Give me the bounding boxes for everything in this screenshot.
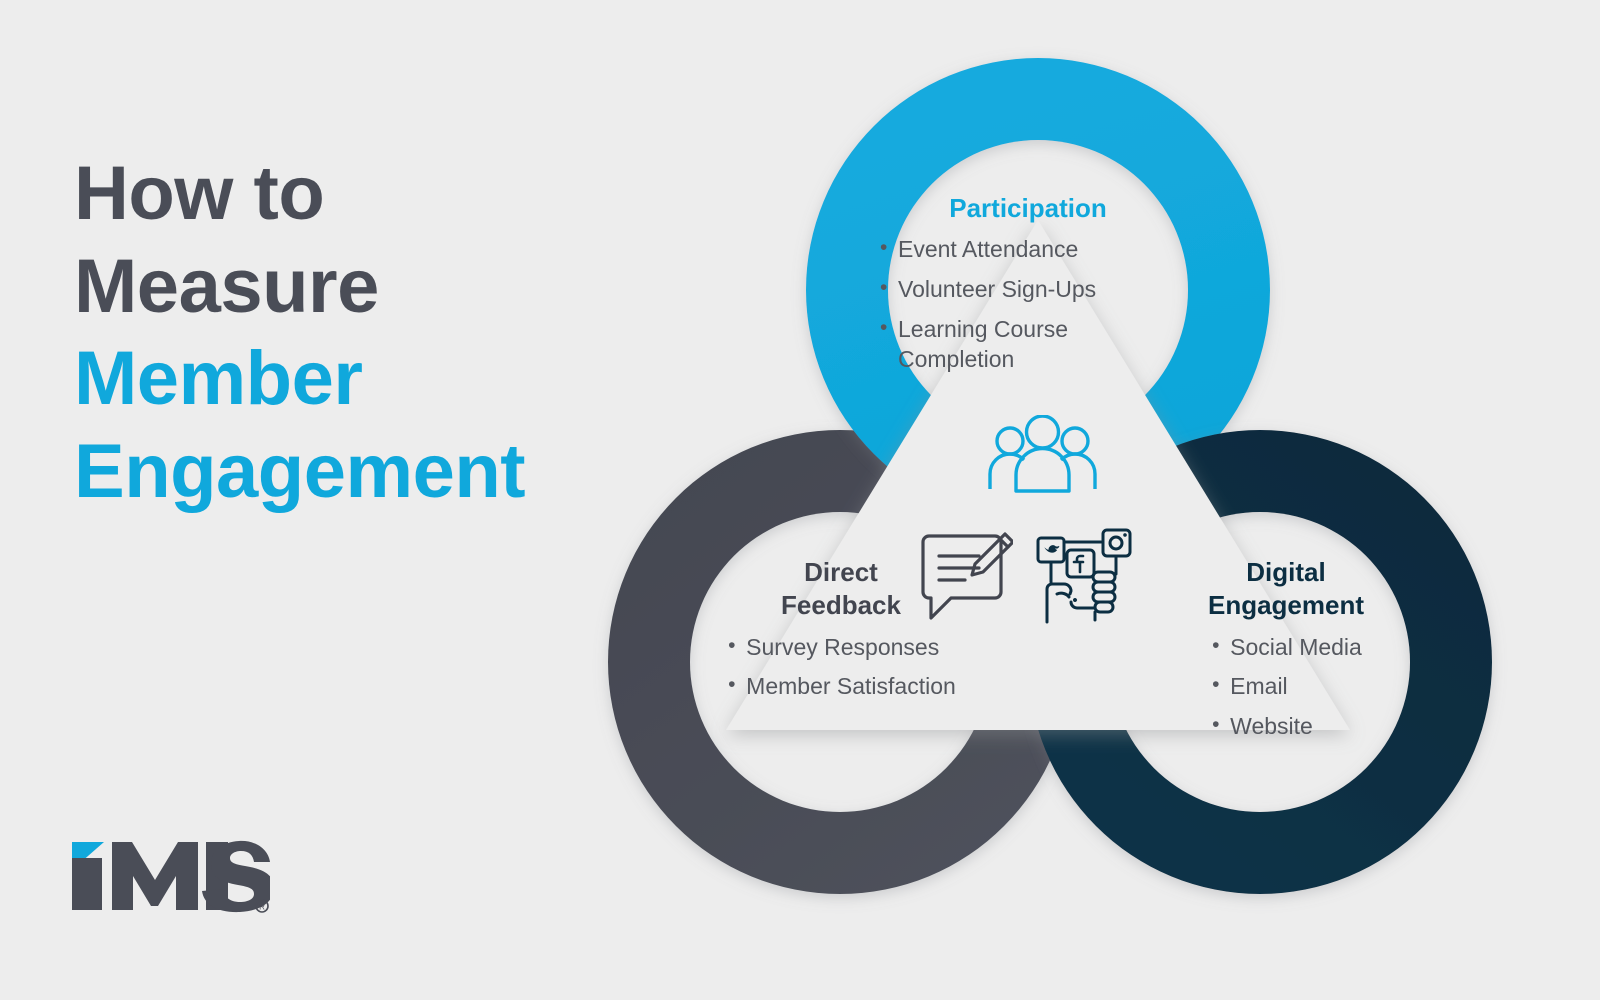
imis-logo: R: [70, 836, 270, 916]
group-participation-list: Event Attendance Volunteer Sign-Ups Lear…: [878, 235, 1178, 375]
group-digital-engagement: Digital Engagement Social Media Email We…: [1146, 556, 1426, 742]
engagement-ring-diagram: Participation Event Attendance Volunteer…: [560, 40, 1560, 960]
group-digital-engagement-title-line-2: Engagement: [1146, 589, 1426, 622]
list-item: Learning Course Completion: [878, 315, 1178, 375]
logo-letter-m: [112, 842, 198, 910]
hand-social-icons-svg: [1035, 528, 1135, 624]
group-digital-engagement-list: Social Media Email Website: [1210, 633, 1362, 743]
list-item: Member Satisfaction: [726, 672, 956, 702]
list-item: Volunteer Sign-Ups: [878, 275, 1178, 305]
list-item: Social Media: [1210, 633, 1362, 663]
list-item: Survey Responses: [726, 633, 956, 663]
speech-bubble-pencil-icon-svg: [915, 530, 1013, 622]
hand-social-icons: [1035, 528, 1135, 624]
imis-logo-svg: R: [70, 836, 270, 916]
list-item: Email: [1210, 672, 1362, 702]
group-participation: Participation Event Attendance Volunteer…: [878, 192, 1178, 375]
rings-svg: [560, 40, 1560, 960]
group-direct-feedback-list: Survey Responses Member Satisfaction: [726, 633, 956, 703]
group-digital-engagement-title: Digital Engagement: [1146, 556, 1426, 623]
group-digital-engagement-title-line-1: Digital: [1146, 556, 1426, 589]
people-group-icon: [985, 415, 1100, 497]
list-item: Event Attendance: [878, 235, 1178, 265]
speech-bubble-pencil-icon: [915, 530, 1013, 622]
registered-mark-letter: R: [259, 903, 265, 912]
infographic-canvas: How to Measure Member Engagement R: [0, 0, 1600, 1000]
logo-letter-i: [72, 858, 102, 910]
list-item: Website: [1210, 712, 1362, 742]
group-participation-title: Participation: [878, 192, 1178, 225]
people-group-icon-svg: [985, 415, 1100, 497]
